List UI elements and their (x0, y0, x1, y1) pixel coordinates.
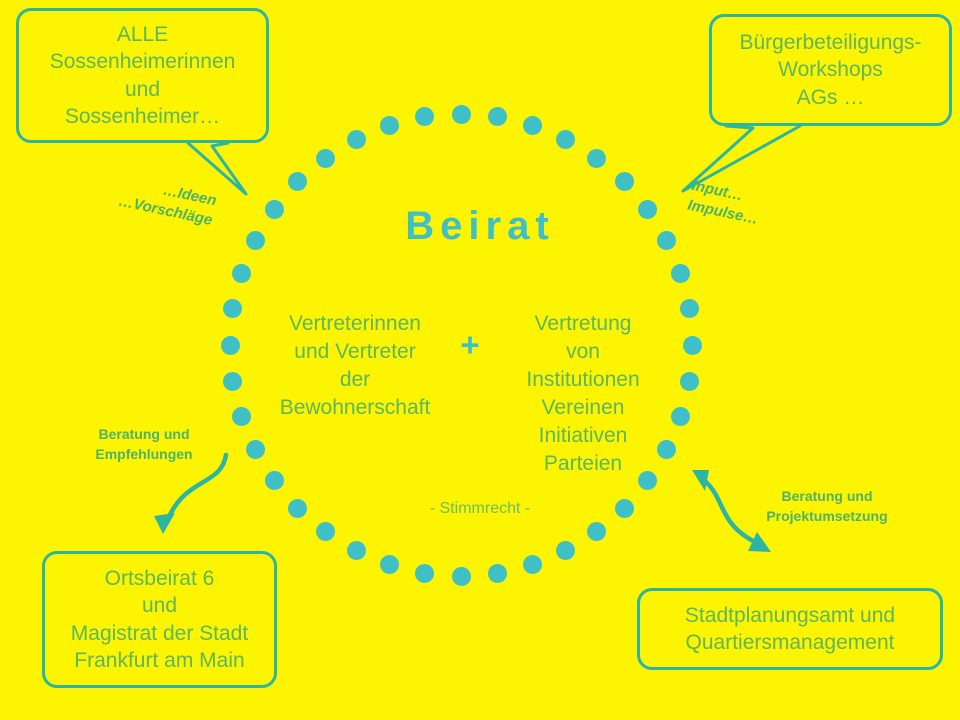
ring-dot (587, 149, 606, 168)
ring-dot (415, 564, 434, 583)
ring-dot (232, 407, 251, 426)
ring-dot (587, 522, 606, 541)
ring-dot (488, 564, 507, 583)
ring-dot (683, 336, 702, 355)
center-column-bewohnerschaft: Vertreterinnen und Vertreter der Bewohne… (262, 310, 448, 422)
bubble-stadtplanungsamt[interactable]: Stadtplanungsamt und Quartiersmanagement (637, 588, 943, 670)
label-beratung-empfehlungen: Beratung und Empfehlungen (72, 425, 216, 464)
ring-dot (232, 264, 251, 283)
ring-dot (380, 116, 399, 135)
ring-dot (316, 522, 335, 541)
ring-dot (523, 116, 542, 135)
label-beratung-projektumsetzung: Beratung und Projektumsetzung (742, 487, 912, 526)
ring-dot (680, 372, 699, 391)
ring-dot (556, 541, 575, 560)
ring-dot (223, 372, 242, 391)
ring-dot (316, 149, 335, 168)
center-column-institutionen: Vertretung von Institutionen Vereinen In… (490, 310, 676, 478)
ring-dot (380, 555, 399, 574)
ring-dot (488, 107, 507, 126)
bubble-workshops[interactable]: Bürgerbeteiligungs- Workshops AGs … (709, 14, 952, 126)
bubble-ortsbeirat[interactable]: Ortsbeirat 6 und Magistrat der Stadt Fra… (42, 551, 277, 688)
ring-dot (671, 264, 690, 283)
ring-dot (288, 172, 307, 191)
ring-dot (452, 105, 471, 124)
ring-dot (265, 471, 284, 490)
ring-dot (556, 130, 575, 149)
ring-dot (615, 172, 634, 191)
ring-dot (680, 299, 699, 318)
ring-dot (347, 130, 366, 149)
ring-dot (452, 567, 471, 586)
plus-icon: + (448, 328, 492, 361)
bubble-citizens[interactable]: ALLE Sossenheimerinnen und Sossenheimer… (16, 8, 269, 143)
diagram-canvas: ALLE Sossenheimerinnen und Sossenheimer…… (0, 0, 960, 720)
ring-dot (221, 336, 240, 355)
ring-dot (347, 541, 366, 560)
ring-dot (415, 107, 434, 126)
ring-dot (523, 555, 542, 574)
ring-dot (246, 440, 265, 459)
ring-dot (223, 299, 242, 318)
